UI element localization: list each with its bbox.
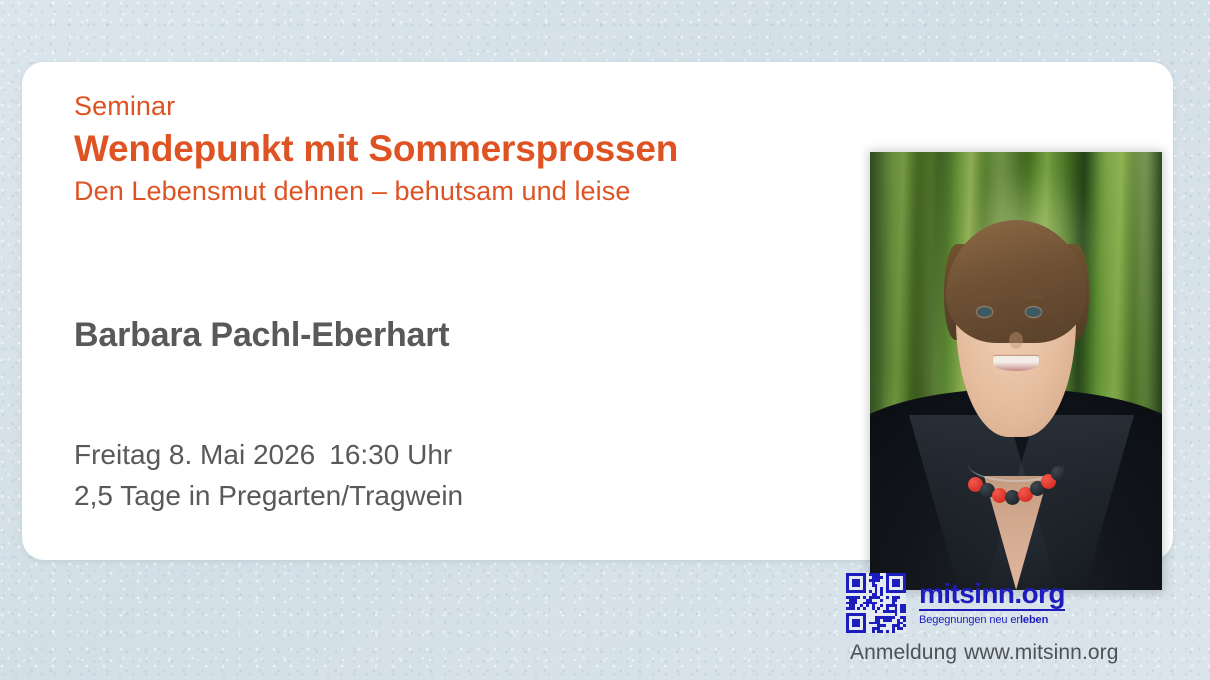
eyebrow-label: Seminar xyxy=(74,90,678,122)
seminar-headline: Wendepunkt mit Sommersprossen xyxy=(74,126,678,171)
anmeldung-label: Anmeldung xyxy=(850,641,957,664)
qr-code-icon[interactable] xyxy=(846,573,906,633)
speaker-name: Barbara Pachl-Eberhart xyxy=(74,315,449,355)
title-block: Seminar Wendepunkt mit Sommersprossen De… xyxy=(74,90,678,208)
seminar-subhead: Den Lebensmut dehnen – behutsam und leis… xyxy=(74,174,678,208)
event-date: Freitag 8. Mai 2026 xyxy=(74,439,315,470)
logo-text: mitsinn.org Begegnungen neu erleben xyxy=(919,579,1065,628)
event-duration-location: 2,5 Tage in Pregarten/Tragwein xyxy=(74,475,463,516)
anmeldung-url[interactable]: www.mitsinn.org xyxy=(964,641,1118,664)
event-details: Freitag 8. Mai 202616:30 Uhr 2,5 Tage in… xyxy=(74,434,463,516)
speaker-portrait xyxy=(870,152,1162,590)
logo-tagline-bold: leben xyxy=(1020,614,1048,626)
logo-wordmark: mitsinn.org xyxy=(919,579,1065,611)
logo-tagline: Begegnungen neu erleben xyxy=(919,613,1065,628)
seminar-poster: Seminar Wendepunkt mit Sommersprossen De… xyxy=(0,0,1210,680)
portrait-image xyxy=(870,152,1162,590)
event-time: 16:30 Uhr xyxy=(329,439,452,470)
registration-line: Anmeldungwww.mitsinn.org xyxy=(850,641,1119,665)
mitsinn-logo[interactable]: mitsinn.org Begegnungen neu erleben xyxy=(846,571,1108,635)
event-date-time-line: Freitag 8. Mai 202616:30 Uhr xyxy=(74,434,463,475)
poster-card: Seminar Wendepunkt mit Sommersprossen De… xyxy=(22,62,1173,560)
logo-tagline-prefix: Begegnungen neu er xyxy=(919,614,1020,626)
necklace xyxy=(966,456,1065,504)
